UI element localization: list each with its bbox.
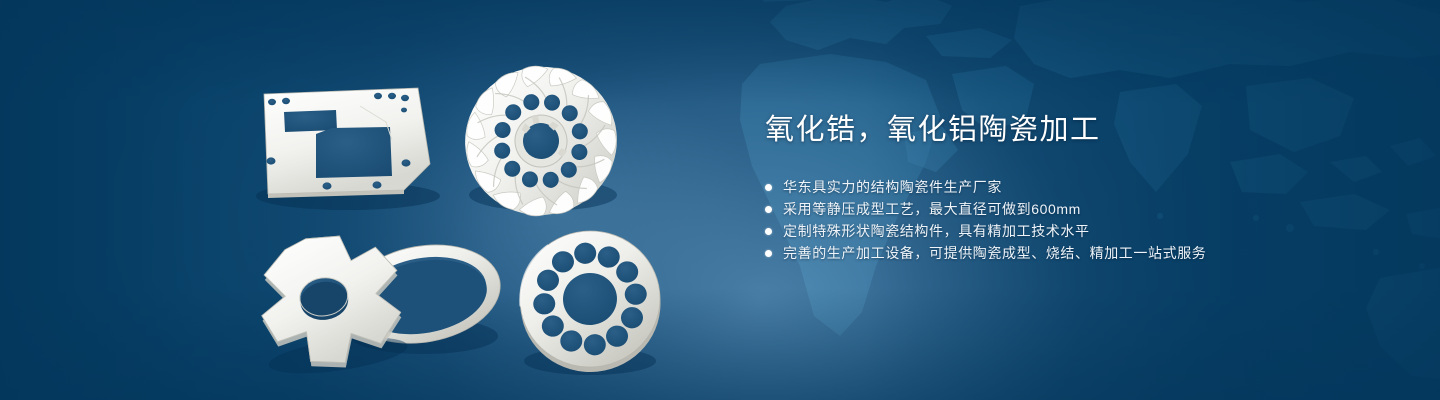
bullet-dot-icon (765, 228, 772, 235)
list-item: 华东具实力的结构陶瓷件生产厂家 (765, 176, 1385, 198)
bullet-dot-icon (765, 250, 772, 257)
bullet-dot-icon (765, 184, 772, 191)
feature-label: 完善的生产加工设备，可提供陶瓷成型、烧结、精加工一站式服务 (783, 242, 1206, 264)
feature-label: 采用等静压成型工艺，最大直径可做到600mm (783, 198, 1081, 220)
page-title: 氧化锆，氧化铝陶瓷加工 (765, 112, 1385, 148)
ceramic-mounting-plate (256, 88, 440, 210)
bullet-dot-icon (765, 206, 772, 213)
list-item: 采用等静压成型工艺，最大直径可做到600mm (765, 198, 1385, 220)
list-item: 完善的生产加工设备，可提供陶瓷成型、烧结、精加工一站式服务 (765, 242, 1385, 264)
ceramic-perforated-ring (513, 224, 667, 379)
feature-label: 华东具实力的结构陶瓷件生产厂家 (783, 176, 1002, 198)
feature-label: 定制特殊形状陶瓷结构件，具有精加工技术水平 (783, 220, 1090, 242)
list-item: 定制特殊形状陶瓷结构件，具有精加工技术水平 (765, 220, 1385, 242)
product-photo-cluster (0, 0, 720, 400)
ceramic-impeller-disc (448, 46, 637, 235)
promo-banner: 氧化锆，氧化铝陶瓷加工 华东具实力的结构陶瓷件生产厂家 采用等静压成型工艺，最大… (0, 0, 1440, 400)
banner-copy: 氧化锆，氧化铝陶瓷加工 华东具实力的结构陶瓷件生产厂家 采用等静压成型工艺，最大… (765, 112, 1385, 264)
feature-list: 华东具实力的结构陶瓷件生产厂家 采用等静压成型工艺，最大直径可做到600mm 定… (765, 176, 1385, 264)
ceramic-cross-plate (252, 227, 409, 380)
